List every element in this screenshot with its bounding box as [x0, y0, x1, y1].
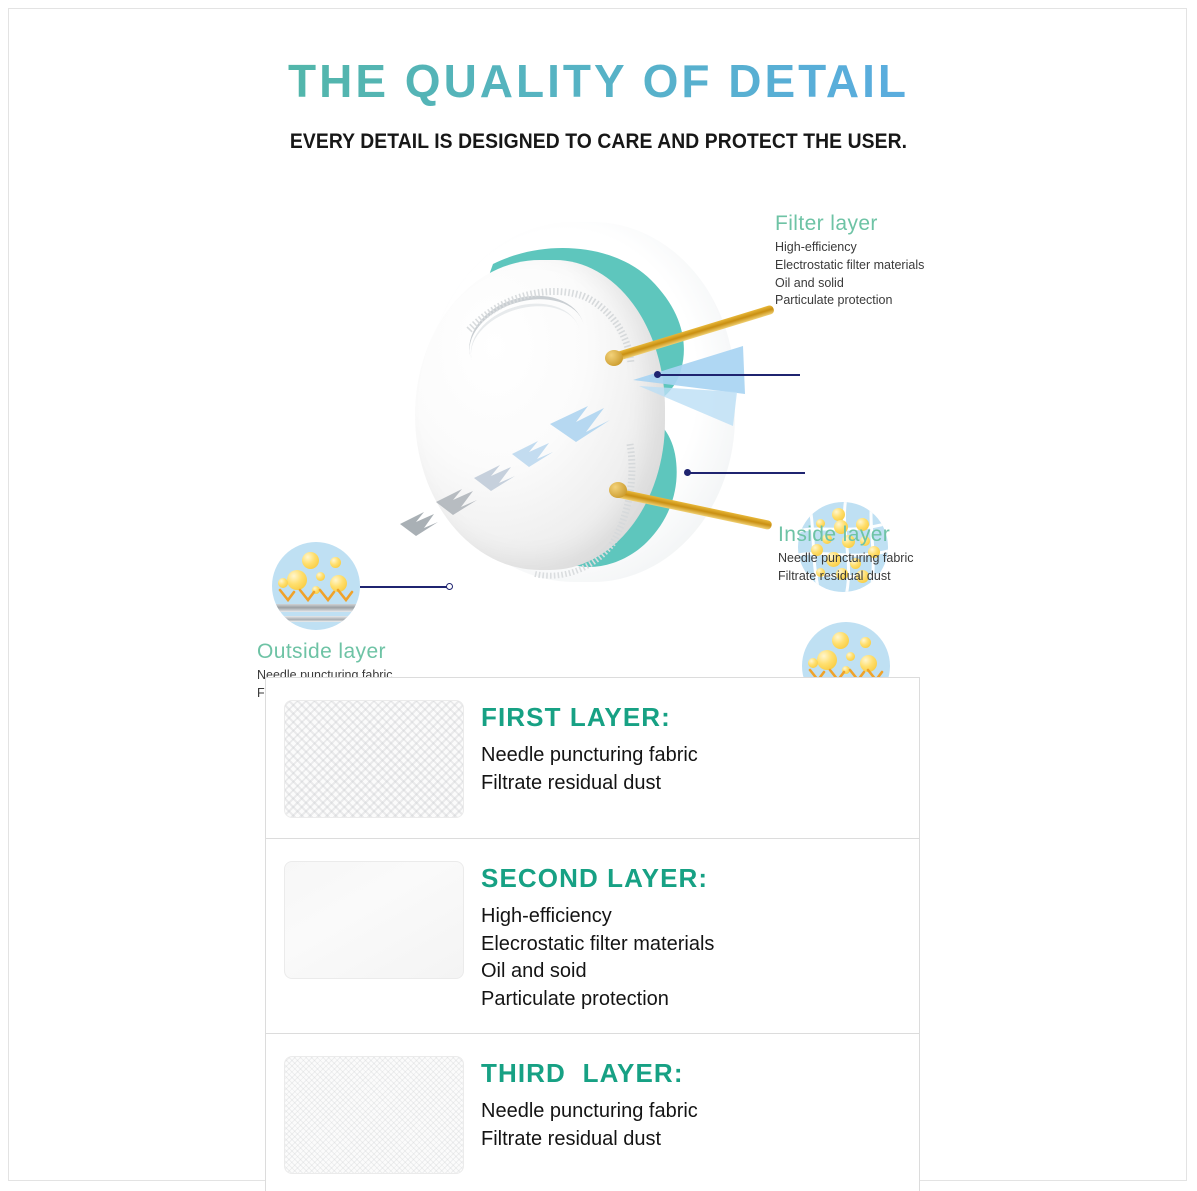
leader-line-filter [660, 374, 800, 376]
table-row: FIRST LAYER: Needle puncturing fabric Fi… [266, 678, 919, 839]
first-layer-title: FIRST LAYER: [481, 702, 909, 733]
particle [832, 508, 845, 521]
particle [832, 632, 849, 649]
leader-endpoint-filter [654, 371, 661, 378]
fabric-layer-bar-secondary [277, 616, 354, 622]
particle [330, 557, 341, 568]
page-title: THE QUALITY OF DETAIL [0, 56, 1197, 107]
callout-line: Filtrate residual dust [778, 568, 914, 586]
particle [860, 637, 871, 648]
particle [302, 552, 319, 569]
respirator-mask-illustration [415, 212, 755, 602]
callout-title-filter: Filter layer [775, 212, 924, 236]
mask-diagram: Outside layer Needle puncturing fabric F… [0, 190, 1197, 610]
layer-text: SECOND LAYER: High-efficiency Elecrostat… [481, 839, 919, 1033]
callout-title-outside: Outside layer [257, 640, 393, 664]
callout-line: High-efficiency [775, 239, 924, 257]
particle [846, 652, 855, 661]
layer-line: Particulate protection [481, 986, 909, 1014]
layer-line: Oil and soid [481, 958, 909, 986]
third-layer-fabric-swatch [284, 1056, 464, 1174]
clean-airflow-fan [625, 340, 755, 460]
fabric-layer-bar [272, 604, 360, 612]
layer-text: THIRD LAYER: Needle puncturing fabric Fi… [481, 1034, 919, 1173]
swatch-cell [266, 839, 481, 999]
swatch-cell [266, 1034, 481, 1191]
particle [278, 578, 288, 588]
callout-line: Particulate protection [775, 292, 924, 310]
page-subtitle: EVERY DETAIL IS DESIGNED TO CARE AND PRO… [48, 130, 1149, 154]
layers-table: FIRST LAYER: Needle puncturing fabric Fi… [265, 677, 920, 1191]
callout-title-inside: Inside layer [778, 523, 914, 547]
layer-text: FIRST LAYER: Needle puncturing fabric Fi… [481, 678, 919, 817]
table-row: SECOND LAYER: High-efficiency Elecrostat… [266, 839, 919, 1034]
leader-endpoint-inside [684, 469, 691, 476]
callout-lines-filter: High-efficiency Electrostatic filter mat… [775, 239, 924, 310]
callout-lines-inside: Needle puncturing fabric Filtrate residu… [778, 550, 914, 586]
outside-layer-magnifier [272, 542, 360, 630]
third-layer-title: THIRD LAYER: [481, 1058, 909, 1089]
leader-line-inside [690, 472, 805, 474]
callout-inside-layer: Inside layer Needle puncturing fabric Fi… [778, 523, 914, 586]
layer-line: Elecrostatic filter materials [481, 931, 909, 959]
callout-line: Needle puncturing fabric [778, 550, 914, 568]
layer-line: Filtrate residual dust [481, 770, 909, 798]
leader-endpoint-outside [446, 583, 453, 590]
particle [287, 570, 307, 590]
layer-line: Needle puncturing fabric [481, 1098, 909, 1126]
swatch-cell [266, 678, 481, 838]
infographic-page: THE QUALITY OF DETAIL EVERY DETAIL IS DE… [0, 0, 1197, 1191]
particle [316, 572, 325, 581]
particle [808, 658, 818, 668]
layer-line: Needle puncturing fabric [481, 742, 909, 770]
leader-line-outside [360, 586, 450, 588]
particle [817, 650, 837, 670]
callout-filter-layer: Filter layer High-efficiency Electrostat… [775, 212, 924, 310]
callout-line: Electrostatic filter materials [775, 257, 924, 275]
second-layer-fabric-swatch [284, 861, 464, 979]
callout-line: Oil and solid [775, 275, 924, 293]
layer-line: Filtrate residual dust [481, 1126, 909, 1154]
first-layer-fabric-swatch [284, 700, 464, 818]
table-row: THIRD LAYER: Needle puncturing fabric Fi… [266, 1034, 919, 1191]
layer-line: High-efficiency [481, 903, 909, 931]
second-layer-title: SECOND LAYER: [481, 863, 909, 894]
